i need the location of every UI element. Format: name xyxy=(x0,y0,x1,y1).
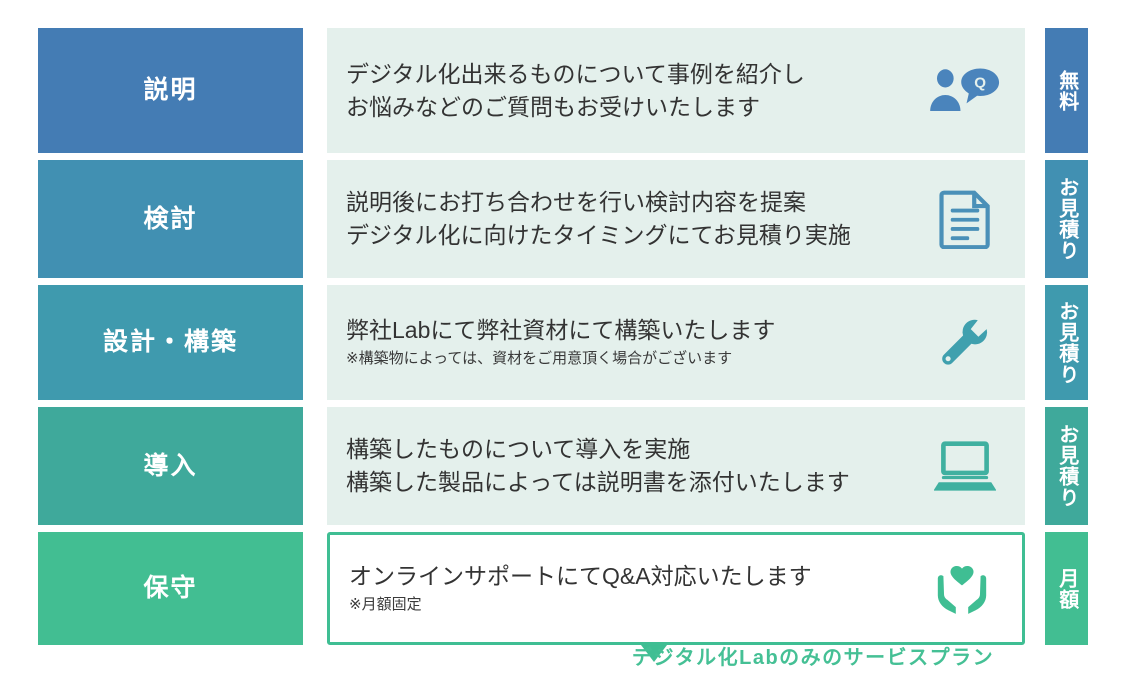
description-note: ※月額固定 xyxy=(349,594,894,617)
content-panel-highlighted: オンラインサポートにてQ&A対応いたします※月額固定 xyxy=(327,532,1025,645)
price-tag: お見積り xyxy=(1045,160,1088,278)
panel-text: 説明後にお打ち合わせを行い検討内容を提案デジタル化に向けたタイミングにてお見積り… xyxy=(327,186,905,251)
stage-label: 設計・構築 xyxy=(103,330,238,355)
panel-text: デジタル化出来るものについて事例を紹介しお悩みなどのご質問もお受けいたします xyxy=(327,58,905,123)
price-tag-label: お見積り xyxy=(1055,177,1077,261)
panel-text: 弊社Labにて弊社資材にて構築いたします※構築物によっては、資材をご用意頂く場合… xyxy=(327,314,905,370)
wrench-icon xyxy=(905,317,1025,368)
description-line: 構築したものについて導入を実施 xyxy=(346,433,897,466)
price-tag-label: 無料 xyxy=(1055,70,1077,112)
service-flow-diagram: 説明デジタル化出来るものについて事例を紹介しお悩みなどのご質問もお受けいたします… xyxy=(0,0,1126,680)
stage-label: 保守 xyxy=(143,576,197,601)
description-note: ※構築物によっては、資材をご用意頂く場合がございます xyxy=(346,348,897,371)
price-tag-label: 月額 xyxy=(1055,568,1077,610)
price-tag-label: お見積り xyxy=(1055,424,1077,508)
person-question-icon: Q xyxy=(905,64,1025,117)
document-icon xyxy=(905,190,1025,249)
hands-heart-icon xyxy=(902,561,1022,616)
content-panel: 構築したものについて導入を実施構築した製品によっては説明書を添付いたします xyxy=(327,407,1025,525)
stage-block[interactable]: 説明 xyxy=(38,28,303,153)
description-line: デジタル化に向けたタイミングにてお見積り実施 xyxy=(346,219,897,252)
stage-label: 説明 xyxy=(143,78,197,103)
stage-label: 検討 xyxy=(143,207,197,232)
stage-block[interactable]: 保守 xyxy=(38,532,303,645)
flow-row: 導入構築したものについて導入を実施構築した製品によっては説明書を添付いたしますお… xyxy=(0,407,1126,525)
content-panel: デジタル化出来るものについて事例を紹介しお悩みなどのご質問もお受けいたしますQ xyxy=(327,28,1025,153)
price-tag-label: お見積り xyxy=(1055,301,1077,385)
stage-label: 導入 xyxy=(143,454,197,479)
description-line: 構築した製品によっては説明書を添付いたします xyxy=(346,466,897,499)
flow-row: 設計・構築弊社Labにて弊社資材にて構築いたします※構築物によっては、資材をご用… xyxy=(0,285,1126,400)
content-panel: 説明後にお打ち合わせを行い検討内容を提案デジタル化に向けたタイミングにてお見積り… xyxy=(327,160,1025,278)
stage-block[interactable]: 導入 xyxy=(38,407,303,525)
description-line: デジタル化出来るものについて事例を紹介し xyxy=(346,58,897,91)
svg-text:Q: Q xyxy=(974,74,986,91)
stage-block[interactable]: 設計・構築 xyxy=(38,285,303,400)
description-line: オンラインサポートにてQ&A対応いたします xyxy=(349,560,894,593)
price-tag: 無料 xyxy=(1045,28,1088,153)
description-line: お悩みなどのご質問もお受けいたします xyxy=(346,91,897,124)
price-tag: 月額 xyxy=(1045,532,1088,645)
stage-block[interactable]: 検討 xyxy=(38,160,303,278)
description-line: 弊社Labにて弊社資材にて構築いたします xyxy=(346,314,897,347)
flow-row: 保守オンラインサポートにてQ&A対応いたします※月額固定月額 xyxy=(0,532,1126,645)
panel-text: オンラインサポートにてQ&A対応いたします※月額固定 xyxy=(330,560,902,616)
description-line: 説明後にお打ち合わせを行い検討内容を提案 xyxy=(346,186,897,219)
panel-text: 構築したものについて導入を実施構築した製品によっては説明書を添付いたします xyxy=(327,433,905,498)
laptop-icon xyxy=(905,439,1025,493)
flow-row: 検討説明後にお打ち合わせを行い検討内容を提案デジタル化に向けたタイミングにてお見… xyxy=(0,160,1126,278)
content-panel: 弊社Labにて弊社資材にて構築いたします※構築物によっては、資材をご用意頂く場合… xyxy=(327,285,1025,400)
flow-row: 説明デジタル化出来るものについて事例を紹介しお悩みなどのご質問もお受けいたします… xyxy=(0,28,1126,153)
price-tag: お見積り xyxy=(1045,407,1088,525)
callout-caption: デジタル化Labのみのサービスプラン xyxy=(632,641,1032,670)
price-tag: お見積り xyxy=(1045,285,1088,400)
